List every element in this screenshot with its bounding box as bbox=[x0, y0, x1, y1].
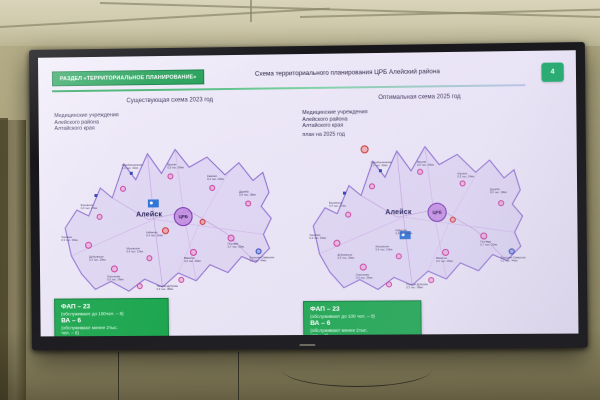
right-marker-14 bbox=[450, 217, 456, 223]
right-square-marker-2 bbox=[343, 192, 346, 195]
right-map-label-2: Боровское0,4 тыс. 27км. bbox=[329, 202, 346, 208]
right-panel-subtitle: Оптимальная схема 2025 год bbox=[378, 94, 460, 101]
left-box-line5: чел. – 6) bbox=[61, 330, 162, 336]
right-marker-12 bbox=[386, 281, 392, 287]
left-map-label-7: Вавилон0,2 тыс. 20км. bbox=[184, 257, 201, 263]
room-ceiling bbox=[0, 0, 600, 46]
right-map-label-9: Осколково0,5 тыс. 26км. bbox=[356, 274, 373, 280]
right-marker-11 bbox=[428, 277, 434, 283]
left-panel-subtitle: Существующая схема 2023 год bbox=[127, 97, 214, 104]
right-marker-8 bbox=[417, 169, 423, 175]
right-map-label-6: Моховское0,4 тыс. 12км. bbox=[376, 245, 393, 251]
right-map-label-12: Кабаково0,4 тыс. 21км. bbox=[396, 229, 413, 235]
right-box-line5: чел. – 6) bbox=[310, 333, 414, 337]
right-marker-10 bbox=[345, 212, 351, 218]
left-map-label-13: Дубровское0,3 тыс. 29км. bbox=[89, 256, 106, 262]
right-map-label-0: Серебренниково1,1 тыс. 42км. bbox=[371, 161, 392, 167]
left-marker-6 bbox=[245, 201, 251, 207]
right-city-label: Алейск bbox=[385, 209, 411, 216]
right-map-label-7: Вавилон0,2 тыс. 20км. bbox=[436, 257, 453, 263]
right-marker-9 bbox=[369, 183, 375, 189]
left-map-label-3: Кашино0,3 тыс. 24км. bbox=[207, 175, 224, 181]
right-marker-15 bbox=[509, 248, 515, 254]
left-marker-2 bbox=[111, 265, 118, 272]
left-map-label-2: Боровское0,4 тыс. 27км. bbox=[81, 204, 98, 210]
left-square-marker-1 bbox=[130, 172, 133, 175]
slide-header: РАЗДЕЛ «ТЕРРИТОРИАЛЬНОЕ ПЛАНИРОВАНИЕ» Сх… bbox=[52, 64, 564, 92]
tv-cable-left bbox=[118, 352, 119, 400]
left-marker-11 bbox=[178, 277, 184, 283]
left-city-label: Алейск bbox=[136, 211, 162, 218]
left-map: Алейск ЦРБ bbox=[50, 122, 292, 298]
right-map: Алейск ЦРБ bbox=[298, 119, 543, 297]
left-marker-9 bbox=[120, 186, 126, 192]
left-marker-15 bbox=[256, 248, 262, 254]
television-display: РАЗДЕЛ «ТЕРРИТОРИАЛЬНОЕ ПЛАНИРОВАНИЕ» Сх… bbox=[29, 42, 588, 350]
right-square-marker-1 bbox=[379, 169, 382, 172]
left-marker-12 bbox=[137, 283, 143, 289]
right-map-label-10: Толстая Дуброва0,3 тыс. 38км. bbox=[406, 283, 428, 289]
left-marker-4 bbox=[190, 249, 197, 256]
right-map-label-1: Фрунзе0,5 тыс. 30км. bbox=[417, 161, 434, 167]
left-marker-10 bbox=[97, 214, 103, 220]
left-map-flag-icon bbox=[148, 199, 159, 207]
left-map-label-1: Фрунзе0,5 тыс. 30км. bbox=[167, 163, 184, 169]
right-central-hospital-marker: ЦРБ bbox=[427, 203, 446, 222]
right-map-panel: Оптимальная схема 2025 год Медицинские у… bbox=[298, 93, 544, 311]
left-central-hospital-marker: ЦРБ bbox=[174, 207, 193, 226]
left-map-label-6: Моховское0,4 тыс. 12км. bbox=[127, 247, 144, 253]
photo-scene: РАЗДЕЛ «ТЕРРИТОРИАЛЬНОЕ ПЛАНИРОВАНИЕ» Сх… bbox=[0, 0, 600, 400]
left-caption-line1: Медицинские учреждения bbox=[54, 112, 118, 119]
right-map-label-3: Кашино0,3 тыс. 24км. bbox=[457, 172, 474, 178]
right-map-label-13: Дубровское0,3 тыс. 29км. bbox=[338, 254, 355, 260]
presentation-screen: РАЗДЕЛ «ТЕРРИТОРИАЛЬНОЕ ПЛАНИРОВАНИЕ» Сх… bbox=[38, 50, 578, 336]
right-map-outline bbox=[298, 119, 543, 297]
right-summary-box: ФАП – 23 (обслуживают до 100 чел. – 8) В… bbox=[303, 300, 422, 336]
right-marker-5 bbox=[480, 232, 487, 239]
right-marker-1 bbox=[333, 240, 340, 247]
right-map-label-8: Плотава0,7 тыс. 33км. bbox=[480, 240, 497, 246]
left-square-marker-2 bbox=[94, 194, 97, 197]
tv-cable-loop bbox=[282, 352, 432, 387]
right-marker-13 bbox=[361, 145, 369, 153]
left-map-label-0: Серебренниково1,1 тыс. 42км. bbox=[122, 164, 143, 170]
left-map-label-10: Толстая Дуброва0,3 тыс. 38км. bbox=[157, 285, 178, 291]
right-marker-3 bbox=[396, 253, 402, 259]
left-marker-7 bbox=[209, 185, 215, 191]
right-map-label-11: Большая Саввушка0,2 тыс. 44км. bbox=[501, 256, 526, 262]
left-marker-5 bbox=[228, 235, 235, 242]
left-map-outline bbox=[50, 122, 292, 298]
section-badge-label: РАЗДЕЛ «ТЕРРИТОРИАЛЬНОЕ ПЛАНИРОВАНИЕ» bbox=[60, 74, 197, 82]
tv-cable-mid bbox=[238, 352, 239, 400]
left-marker-3 bbox=[146, 255, 152, 261]
right-marker-6 bbox=[498, 200, 504, 206]
left-map-label-8: Плотава0,7 тыс. 33км. bbox=[228, 243, 245, 249]
tv-power-led bbox=[299, 344, 315, 346]
slide-number-badge: 4 bbox=[541, 62, 564, 81]
right-map-label-4: Дружба0,6 тыс. 18км. bbox=[490, 188, 508, 194]
left-map-label-5: Урюпино0,3 тыс. 15км. bbox=[61, 236, 78, 242]
right-caption-line1: Медицинские учреждения bbox=[302, 109, 367, 116]
right-marker-2 bbox=[360, 264, 367, 271]
left-summary-box: ФАП – 23 (обслуживают до 100чел. – 8) ВА… bbox=[54, 298, 169, 337]
right-marker-4 bbox=[442, 249, 449, 256]
section-badge: РАЗДЕЛ «ТЕРРИТОРИАЛЬНОЕ ПЛАНИРОВАНИЕ» bbox=[52, 69, 205, 86]
page-title: Схема территориального планирования ЦРБ … bbox=[255, 68, 440, 77]
left-marker-14 bbox=[200, 219, 206, 225]
right-marker-7 bbox=[460, 180, 466, 186]
left-map-label-9: Осколково0,5 тыс. 26км. bbox=[107, 275, 124, 281]
right-map-label-5: Урюпино0,3 тыс. 15км. bbox=[309, 234, 326, 240]
slide-canvas: РАЗДЕЛ «ТЕРРИТОРИАЛЬНОЕ ПЛАНИРОВАНИЕ» Сх… bbox=[38, 50, 578, 336]
left-marker-8 bbox=[167, 173, 173, 179]
left-map-label-12: Кабаково0,4 тыс. 21км. bbox=[146, 231, 163, 237]
left-marker-1 bbox=[85, 242, 92, 249]
left-map-label-4: Дружба0,6 тыс. 18км. bbox=[239, 190, 256, 196]
left-map-label-11: Большая Саввушка0,2 тыс. 44км. bbox=[250, 256, 274, 262]
left-map-panel: Существующая схема 2023 год Медицинские … bbox=[50, 96, 292, 312]
